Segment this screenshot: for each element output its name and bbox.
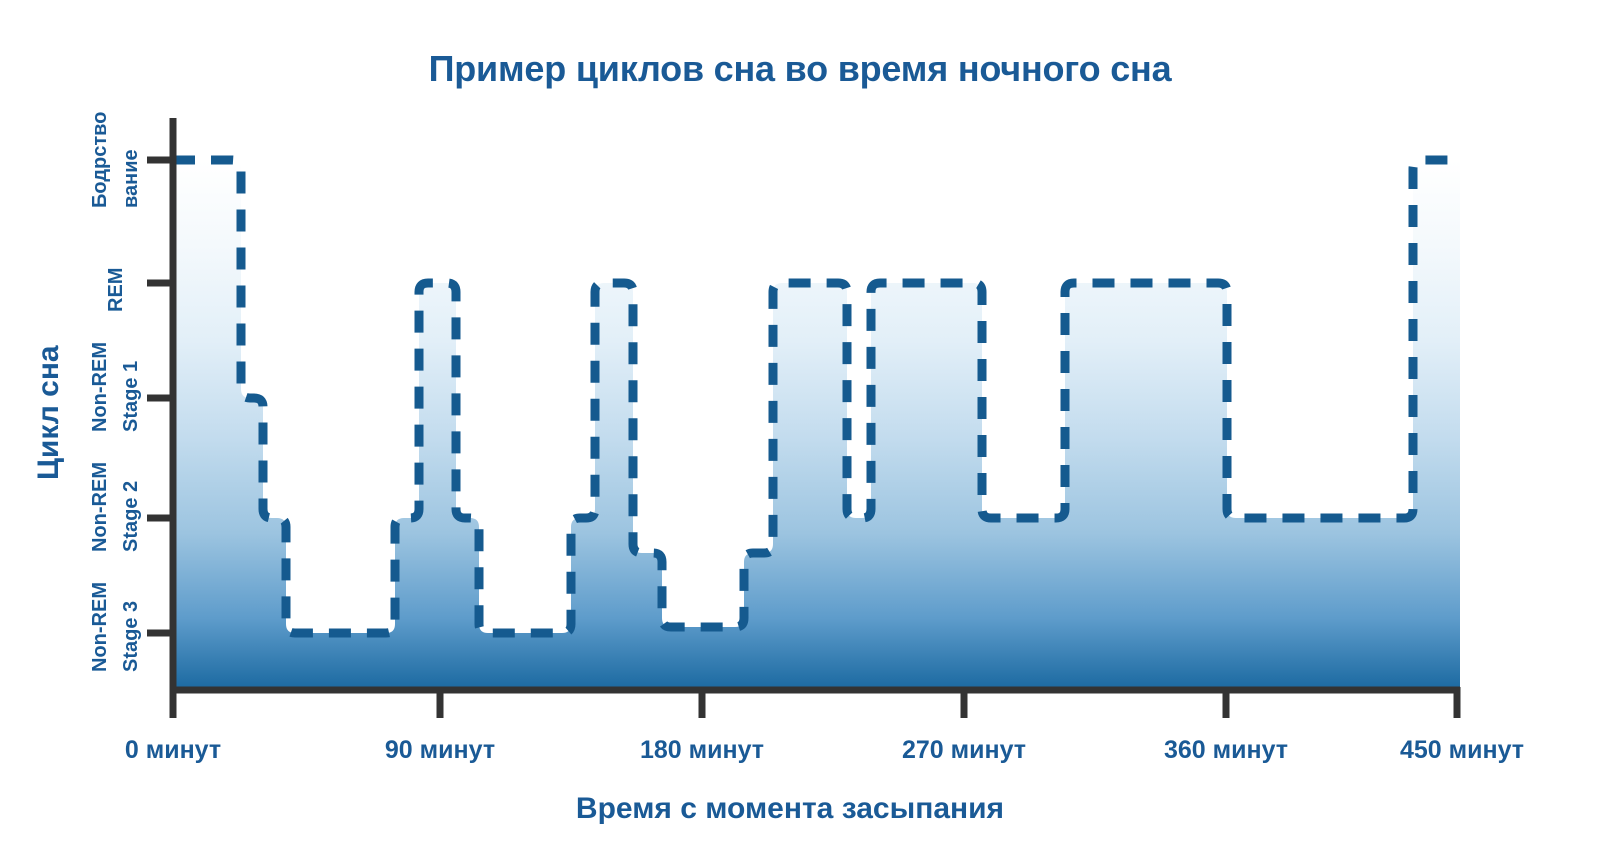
- xtick-label-450: 450 минут: [1400, 736, 1524, 764]
- xtick-label-270: 270 минут: [902, 736, 1026, 764]
- xtick-label-90: 90 минут: [385, 736, 495, 764]
- y-axis-tick-labels: Бодрство вание REM Non-REM Stage 1 Non-R…: [89, 112, 142, 672]
- ytick-label-wake-line2: вание: [120, 149, 142, 208]
- hypnogram-area-fill: [173, 160, 1460, 693]
- ytick-label-n3-line1: Non-REM: [89, 582, 111, 672]
- x-axis-tick-labels: 0 минут 90 минут 180 минут 270 минут 360…: [125, 736, 1524, 764]
- xtick-label-180: 180 минут: [640, 736, 764, 764]
- ytick-label-n2-line1: Non-REM: [89, 462, 111, 552]
- ytick-label-n3-line2: Stage 3: [120, 601, 142, 672]
- xtick-label-360: 360 минут: [1164, 736, 1288, 764]
- ytick-label-wake-line1: Бодрство: [89, 112, 111, 208]
- y-axis-title: Цикл сна: [32, 345, 65, 480]
- ytick-label-n1-line2: Stage 1: [120, 361, 142, 432]
- ytick-label-n1-line1: Non-REM: [89, 342, 111, 432]
- sleep-cycle-chart: Пример циклов сна во время ночного сна: [0, 0, 1600, 868]
- ytick-label-n2-line2: Stage 2: [120, 481, 142, 552]
- x-axis-title: Время с момента засыпания: [576, 792, 1004, 825]
- xtick-label-0: 0 минут: [125, 736, 221, 764]
- hypnogram-plot: Цикл сна Бодрство вание REM Non-REM Stag…: [0, 0, 1600, 868]
- ytick-label-rem-line1: REM: [105, 268, 127, 312]
